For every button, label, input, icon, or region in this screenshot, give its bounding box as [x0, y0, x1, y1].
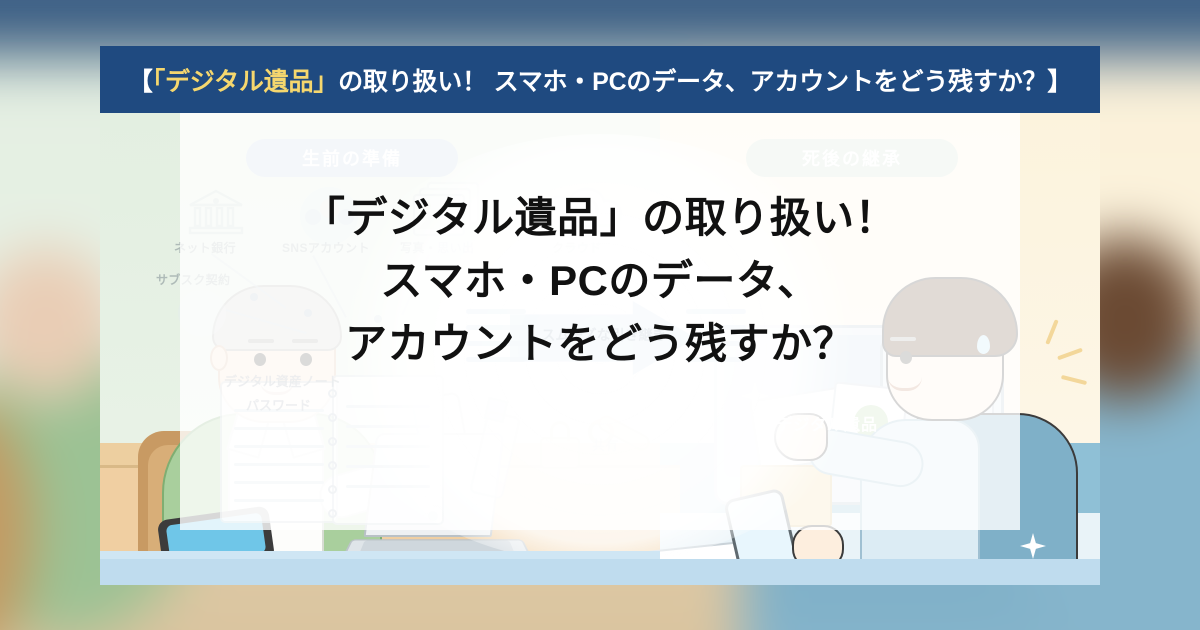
base-band-secondary	[100, 551, 660, 559]
header-bracket-open: 【	[128, 68, 153, 96]
header-banner-text: 【「デジタル遺品」の取り扱い！ スマホ・PCのデータ、アカウントをどう残すか？】	[128, 62, 1072, 98]
header-rest-text: の取り扱い！ スマホ・PCのデータ、アカウントをどう残すか？	[338, 68, 1047, 96]
page-title-line-2: スマホ・PCのデータ、	[180, 249, 1020, 312]
page-title: 「デジタル遺品」の取り扱い！ スマホ・PCのデータ、 アカウントをどう残すか？	[180, 186, 1020, 375]
header-bracket-close: 】	[1047, 68, 1072, 96]
page-title-line-3: アカウントをどう残すか？	[180, 312, 1020, 375]
header-highlight-term: 「デジタル遺品」	[153, 68, 338, 96]
header-banner: 【「デジタル遺品」の取り扱い！ スマホ・PCのデータ、アカウントをどう残すか？】	[100, 46, 1100, 113]
base-band	[100, 559, 1100, 585]
page-title-line-1: 「デジタル遺品」の取り扱い！	[180, 186, 1020, 249]
